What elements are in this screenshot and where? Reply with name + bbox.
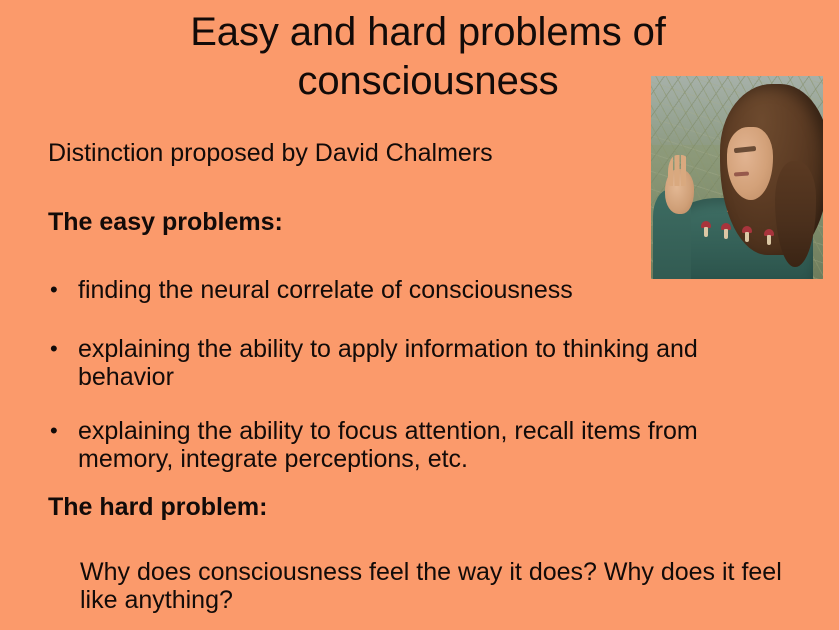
photo-shirt-motif	[701, 221, 711, 237]
slide-subtitle: Distinction proposed by David Chalmers	[48, 138, 493, 168]
bullet-item: • explaining the ability to apply inform…	[46, 335, 786, 391]
hard-problem-text: Why does consciousness feel the way it d…	[80, 558, 800, 614]
photo-shirt-motif	[742, 226, 752, 242]
portrait-photo	[651, 76, 823, 279]
easy-problems-heading: The easy problems:	[48, 207, 283, 237]
bullet-item-text: finding the neural correlate of consciou…	[78, 276, 786, 304]
hard-problem-heading: The hard problem:	[48, 492, 267, 522]
photo-shirt-motif	[764, 229, 774, 245]
bullet-item: • finding the neural correlate of consci…	[46, 276, 786, 304]
bullet-item-text: explaining the ability to apply informat…	[78, 335, 786, 391]
photo-shirt-motif	[721, 223, 731, 239]
bullet-item: • explaining the ability to focus attent…	[46, 417, 786, 473]
presentation-slide: Easy and hard problems of consciousness …	[0, 0, 839, 630]
bullet-item-text: explaining the ability to focus attentio…	[78, 417, 786, 473]
bullet-point-icon: •	[46, 417, 78, 445]
portrait-photo-canvas	[651, 76, 823, 279]
slide-title-line-1: Easy and hard problems of	[0, 6, 839, 58]
photo-fingers	[668, 155, 690, 185]
bullet-point-icon: •	[46, 276, 78, 304]
bullet-point-icon: •	[46, 335, 78, 363]
